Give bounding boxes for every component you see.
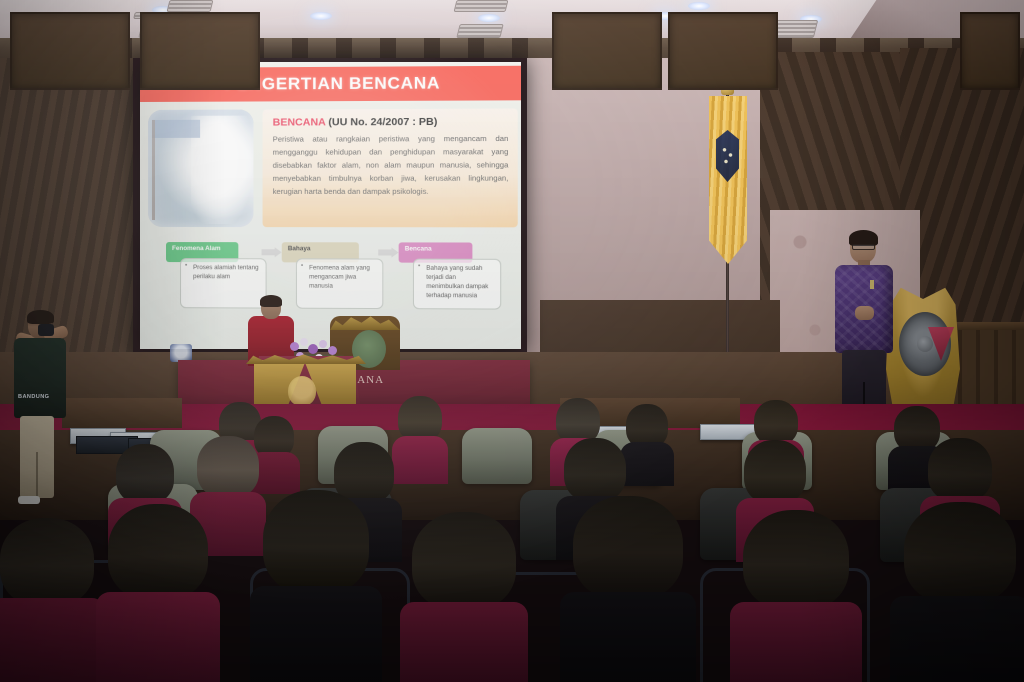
flow-arrow-icon (378, 247, 398, 257)
audience-member (400, 512, 528, 682)
glasses-icon (262, 305, 280, 309)
nameplate (582, 426, 638, 442)
definition-heading-rest: (UU No. 24/2007 : PB) (328, 116, 437, 129)
definition-body: Peristiwa atau rangkaian peristiwa yang … (273, 132, 509, 198)
flow-arrow-icon (262, 247, 282, 257)
audience-member (730, 510, 862, 682)
seat (700, 568, 870, 682)
monitor-back (128, 438, 190, 456)
presentation-slide: PENGERTIAN BENCANA BENCANA (UU No. 24/20… (140, 62, 521, 349)
lectern-emblem-icon (288, 376, 316, 406)
person-shirt (560, 592, 696, 682)
flower (319, 340, 327, 348)
side-table-left (62, 398, 182, 428)
person-head (0, 518, 94, 606)
photographer-vest: BANDUNG (14, 338, 66, 418)
definition-box: BENCANA (UU No. 24/2007 : PB) Peristiwa … (263, 108, 518, 227)
seat (0, 560, 150, 682)
audience-member (890, 502, 1024, 682)
flower (300, 338, 308, 346)
glasses-icon (852, 244, 875, 250)
wainscot-panel (140, 12, 260, 90)
ac-vent (454, 0, 509, 12)
photo-washout-overlay (148, 110, 253, 228)
speaker-name-badge (870, 280, 874, 289)
person-shirt (400, 602, 528, 682)
flow-step-detail: Fenomena alam yang mengancam jiwa manusi… (296, 258, 383, 309)
gong-boss (917, 336, 933, 352)
nameplate (700, 424, 756, 440)
flower (328, 346, 337, 355)
photographer-hair (27, 310, 54, 324)
vest-text: BANDUNG (18, 394, 64, 400)
ac-vent (456, 24, 503, 38)
seminar-hall-scene: PENGERTIAN BENCANA BENCANA (UU No. 24/20… (0, 0, 1024, 682)
wainscot-panel (10, 12, 130, 90)
definition-heading: BENCANA (UU No. 24/2007 : PB) (273, 116, 509, 129)
seat (480, 572, 640, 682)
slide-volcano-photo (148, 110, 253, 228)
person-shirt (890, 596, 1024, 682)
ac-vent (167, 0, 214, 12)
speaker-hands (855, 306, 874, 320)
audience-member (0, 518, 106, 682)
ceiling-downlight (478, 14, 500, 22)
audience-member (560, 496, 696, 682)
camera-icon (38, 324, 54, 336)
wainscot-panel (960, 12, 1020, 90)
flower (290, 342, 299, 351)
definition-heading-highlight: BENCANA (273, 116, 326, 128)
audience-member (96, 504, 220, 682)
flow-step-bahaya: Bahaya Fenomena alam yang mengancam jiwa… (282, 242, 384, 309)
wainscot-panel (668, 12, 778, 90)
person-shirt (0, 598, 106, 682)
person-head (412, 512, 516, 610)
flow-step-bencana: Bencana Bahaya yang sudah terjadi dan me… (399, 242, 502, 309)
person-shirt (250, 586, 382, 682)
ceiling-downlight (310, 12, 332, 20)
flower (308, 344, 318, 354)
ceiling-downlight (688, 2, 710, 10)
trouser-seam (36, 452, 38, 498)
person-shirt (730, 602, 862, 682)
flow-step-detail: Bahaya yang sudah terjadi dan menimbulka… (413, 259, 501, 310)
photographer-shoe (18, 496, 40, 504)
projection-screen[interactable]: PENGERTIAN BENCANA BENCANA (UU No. 24/20… (140, 62, 521, 349)
seat (250, 568, 410, 682)
person-shirt (96, 592, 220, 682)
person-head (743, 510, 849, 610)
photographer: BANDUNG (8, 312, 70, 502)
wainscot-panel (552, 12, 662, 90)
